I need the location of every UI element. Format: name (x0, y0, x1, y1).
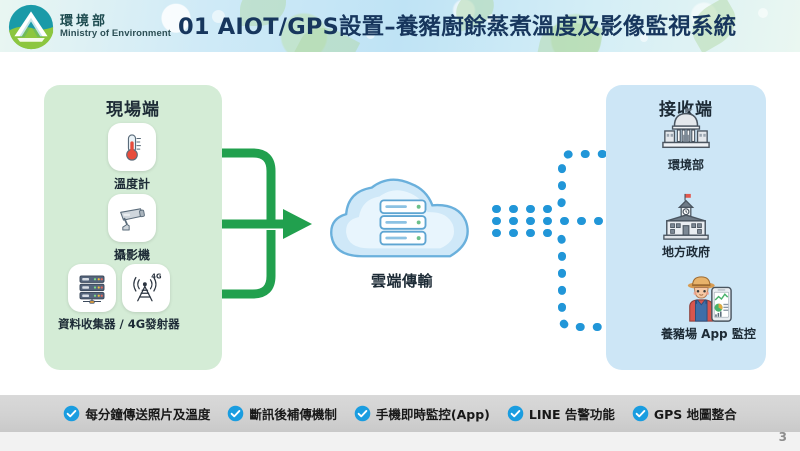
server-rack-tile (68, 264, 116, 312)
feature-chip-gps-map[interactable]: GPS 地圖整合 (632, 404, 737, 423)
feature-chip-label: LINE 告警功能 (529, 404, 615, 423)
feature-chip-label: 斷訊後補傳機制 (249, 404, 337, 423)
page-title: 01 AIOT/GPS設置–養豬廚餘蒸煮溫度及影像監視系統 (178, 9, 736, 41)
capitol-building-icon (661, 105, 711, 155)
node-collector-transmitter-label: 資料收集器 / 4G發射器 (58, 316, 180, 332)
cctv-camera-icon (115, 201, 149, 235)
ministry-of-environment-mountain-logo-icon (8, 4, 54, 50)
node-collector-transmitter[interactable]: 4G (58, 264, 180, 332)
feature-chip-label: 每分鐘傳送照片及溫度 (85, 404, 210, 423)
check-circle-icon (227, 405, 244, 422)
feature-bar: 每分鐘傳送照片及溫度 斷訊後補傳機制 手機即時監控(App) LINE 告警功能 (0, 395, 800, 432)
check-circle-icon (632, 405, 649, 422)
slide-canvas: 環境部 Ministry of Environment 01 AIOT/GPS設… (0, 0, 800, 451)
city-hall-icon (661, 192, 711, 242)
check-circle-icon (354, 405, 371, 422)
check-circle-icon (63, 405, 80, 422)
footer-strip (0, 432, 800, 451)
page-number: 3 (779, 430, 787, 444)
node-thermometer[interactable]: 溫度計 (108, 123, 156, 192)
cloud-transmission-node[interactable]: 雲端傳輸 (318, 170, 486, 295)
cloud-server-icon (318, 170, 486, 268)
bokeh-decoration (758, 8, 768, 18)
diagram-stage: 現場端 溫度計 (0, 52, 800, 395)
farmer-with-phone-icon (683, 274, 733, 324)
node-camera[interactable]: 攝影機 (108, 194, 156, 263)
feature-chip-label: 手機即時監控(App) (376, 404, 490, 423)
check-circle-icon (507, 405, 524, 422)
node-farm-app-receiver-label: 養豬場 App 監控 (661, 325, 756, 342)
cloud-transmission-label: 雲端傳輸 (371, 270, 433, 291)
ministry-logo: 環境部 Ministry of Environment (8, 4, 171, 50)
feature-chip-label: GPS 地圖整合 (654, 404, 737, 423)
node-thermometer-label: 溫度計 (114, 175, 150, 192)
thermometer-icon (115, 130, 149, 164)
server-rack-icon (74, 270, 110, 306)
4g-tower-icon: 4G (128, 270, 164, 306)
node-ministry-receiver-label: 環境部 (668, 156, 704, 173)
collector-tile-row: 4G (68, 264, 170, 312)
feature-chip-retransmit[interactable]: 斷訊後補傳機制 (227, 404, 337, 423)
ministry-name-zh: 環境部 (60, 15, 171, 29)
node-local-government-receiver[interactable]: 地方政府 (661, 192, 711, 260)
ministry-name-en: Ministry of Environment (60, 29, 171, 39)
ministry-logo-text: 環境部 Ministry of Environment (60, 15, 171, 39)
camera-tile (108, 194, 156, 242)
feature-chip-line-alert[interactable]: LINE 告警功能 (507, 404, 615, 423)
svg-text:4G: 4G (151, 272, 162, 280)
slide-header: 環境部 Ministry of Environment 01 AIOT/GPS設… (0, 0, 800, 52)
feature-chip-photo-temp[interactable]: 每分鐘傳送照片及溫度 (63, 404, 210, 423)
node-farm-app-receiver[interactable]: 養豬場 App 監控 (661, 274, 756, 342)
thermometer-tile (108, 123, 156, 171)
uplink-arrowhead (283, 209, 312, 239)
feature-chip-mobile-app[interactable]: 手機即時監控(App) (354, 404, 490, 423)
node-local-government-receiver-label: 地方政府 (662, 243, 710, 260)
tower-4g-tile: 4G (122, 264, 170, 312)
node-ministry-receiver[interactable]: 環境部 (661, 105, 711, 173)
field-end-panel-title: 現場端 (44, 95, 222, 120)
node-camera-label: 攝影機 (114, 246, 150, 263)
